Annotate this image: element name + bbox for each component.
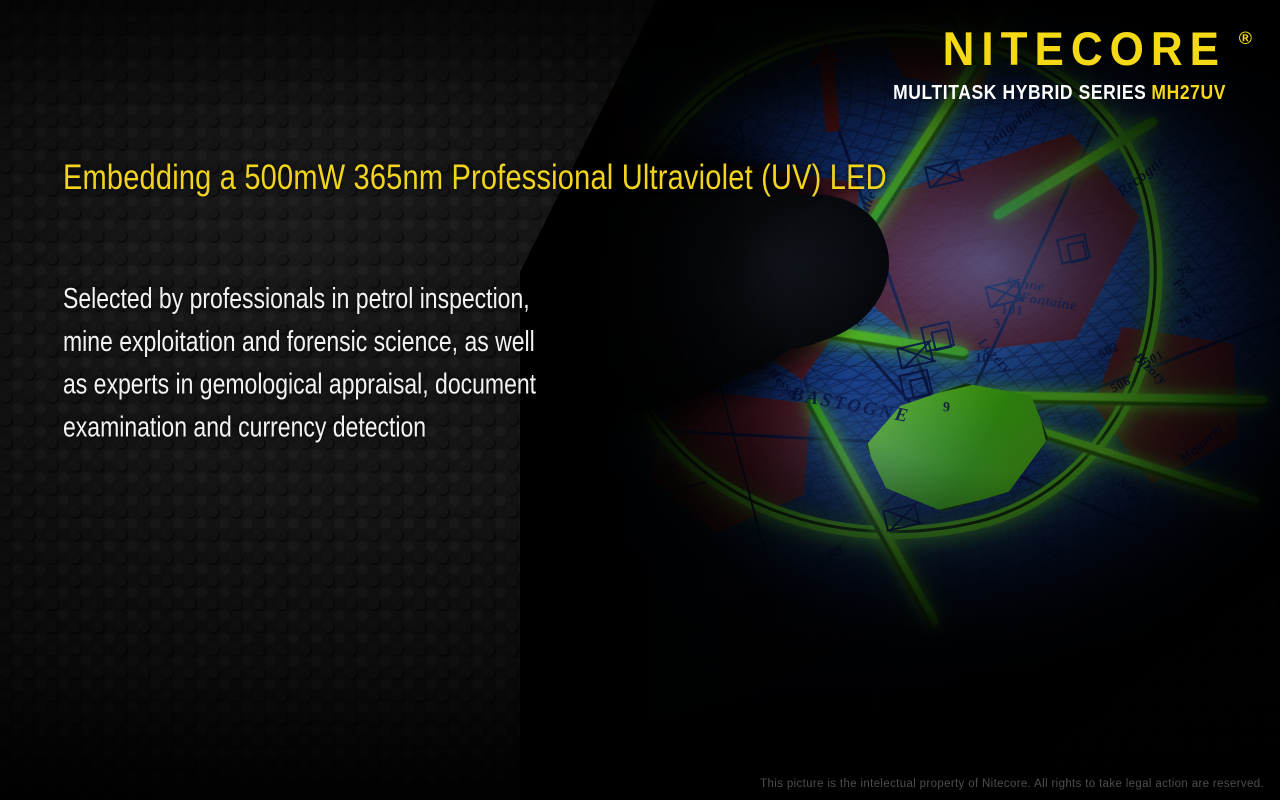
- body-line: mine exploitation and forensic science, …: [63, 327, 536, 356]
- body-paragraph: Selected by professionals in petrol insp…: [63, 284, 536, 455]
- slide-canvas: BASTOGNE December 1944 Salle Givry Flami…: [0, 0, 1280, 800]
- body-line: as experts in gemological appraisal, doc…: [63, 370, 536, 399]
- copyright-disclaimer: This picture is the intelectual property…: [760, 778, 1264, 790]
- body-line: examination and currency detection: [63, 413, 536, 442]
- brand-lockup: NITECORE ® MULTITASK HYBRID SERIESMH27UV: [893, 28, 1226, 103]
- registered-trademark-icon: ®: [1239, 29, 1252, 47]
- series-name-text: MULTITASK HYBRID SERIES: [893, 81, 1146, 104]
- brand-wordmark: NITECORE ®: [943, 26, 1226, 74]
- model-name-text: MH27UV: [1151, 81, 1226, 104]
- brand-name-text: NITECORE: [943, 23, 1226, 76]
- body-line: Selected by professionals in petrol insp…: [63, 284, 536, 313]
- page-title: Embedding a 500mW 365nm Professional Ult…: [63, 158, 887, 198]
- brand-series-line: MULTITASK HYBRID SERIESMH27UV: [893, 81, 1226, 105]
